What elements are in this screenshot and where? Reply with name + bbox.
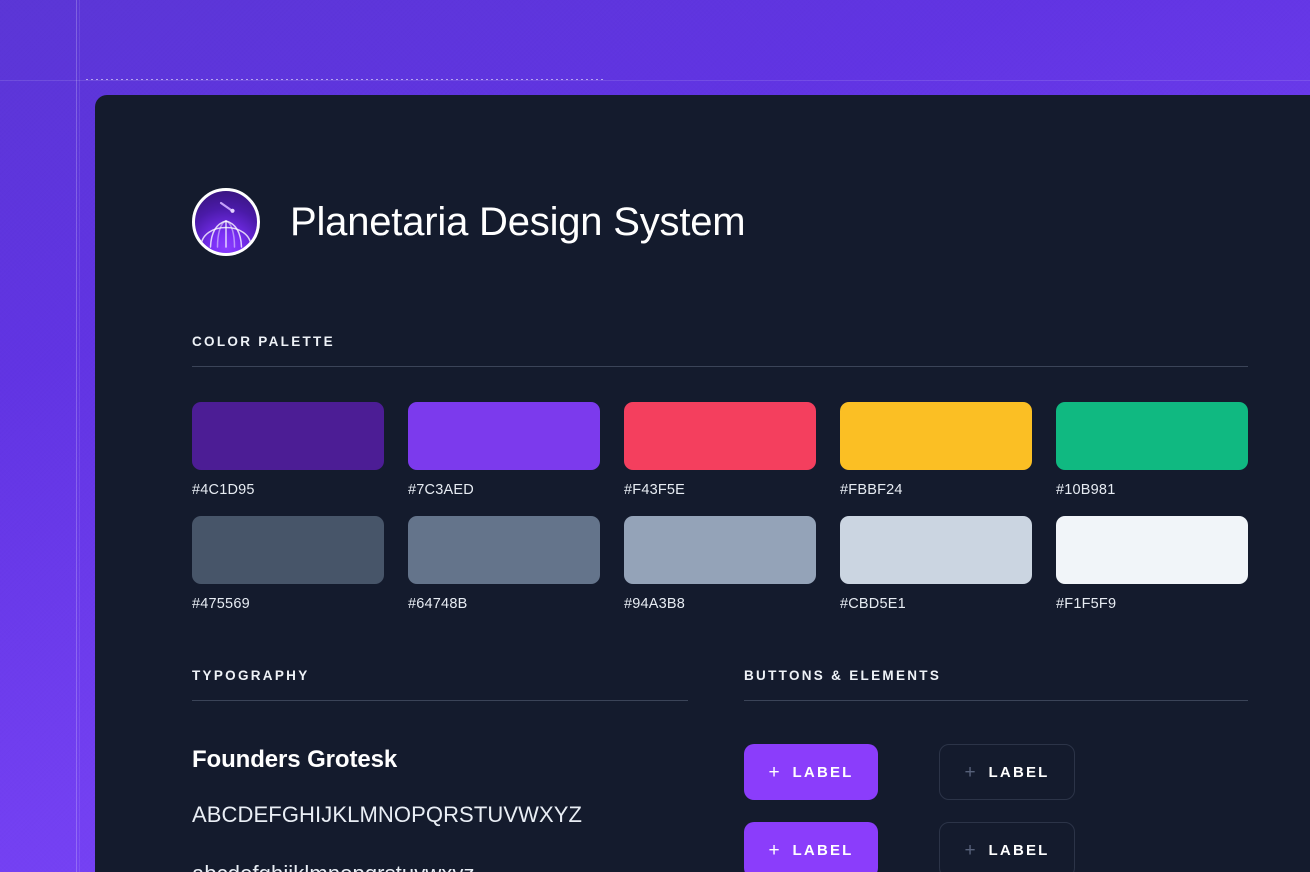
- color-swatch-hex: #475569: [192, 596, 384, 612]
- color-swatch-chip[interactable]: [192, 402, 384, 470]
- section-heading-buttons: BUTTONS & ELEMENTS: [744, 668, 1248, 683]
- color-swatch-hex: #64748B: [408, 596, 600, 612]
- button-label: LABEL: [793, 842, 854, 859]
- color-swatch[interactable]: #CBD5E1: [840, 516, 1032, 612]
- section-color-palette: COLOR PALETTE #4C1D95 #7C3AED #F43F5E: [192, 334, 1248, 612]
- color-swatch-hex: #94A3B8: [624, 596, 816, 612]
- color-swatch-hex: #CBD5E1: [840, 596, 1032, 612]
- plus-icon: +: [768, 763, 779, 782]
- plus-icon: +: [964, 841, 975, 860]
- color-swatch[interactable]: #FBBF24: [840, 402, 1032, 498]
- typeface-lowercase-specimen: abcdefghijklmnopqrstuvwxyz: [192, 856, 688, 872]
- color-swatch-hex: #7C3AED: [408, 482, 600, 498]
- guide-line-horizontal: [0, 80, 1310, 81]
- color-swatch[interactable]: #64748B: [408, 516, 600, 612]
- color-swatch-chip[interactable]: [1056, 402, 1248, 470]
- color-swatch-chip[interactable]: [840, 516, 1032, 584]
- guide-line-vertical-secondary: [79, 0, 80, 872]
- color-swatch-chip[interactable]: [1056, 516, 1248, 584]
- section-divider: [192, 366, 1248, 367]
- color-swatch-hex: #FBBF24: [840, 482, 1032, 498]
- section-divider: [744, 700, 1248, 701]
- color-swatch-chip[interactable]: [840, 402, 1032, 470]
- brand-header: Planetaria Design System: [192, 95, 1248, 256]
- section-heading-color-palette: COLOR PALETTE: [192, 334, 1248, 349]
- color-swatch[interactable]: #F43F5E: [624, 402, 816, 498]
- color-swatch[interactable]: #4C1D95: [192, 402, 384, 498]
- section-typography: TYPOGRAPHY Founders Grotesk ABCDEFGHIJKL…: [192, 668, 688, 872]
- plus-icon: +: [768, 841, 779, 860]
- button-grid: + LABEL + LABEL + LABEL + LABEL: [744, 744, 1248, 872]
- section-divider: [192, 700, 688, 701]
- color-swatch-chip[interactable]: [624, 402, 816, 470]
- color-swatch-hex: #4C1D95: [192, 482, 384, 498]
- color-swatch-grid: #4C1D95 #7C3AED #F43F5E #FBBF24 #10B981: [192, 402, 1248, 612]
- color-swatch-chip[interactable]: [408, 516, 600, 584]
- color-swatch[interactable]: #94A3B8: [624, 516, 816, 612]
- button-label: LABEL: [793, 764, 854, 781]
- color-swatch-chip[interactable]: [408, 402, 600, 470]
- guide-line-dotted: [86, 79, 606, 80]
- planetarium-dome-icon: [192, 188, 260, 256]
- secondary-button[interactable]: + LABEL: [939, 744, 1075, 800]
- button-label: LABEL: [989, 764, 1050, 781]
- primary-button[interactable]: + LABEL: [744, 744, 878, 800]
- section-heading-typography: TYPOGRAPHY: [192, 668, 688, 683]
- color-swatch-chip[interactable]: [192, 516, 384, 584]
- typeface-name: Founders Grotesk: [192, 746, 688, 774]
- color-swatch[interactable]: #475569: [192, 516, 384, 612]
- color-swatch-hex: #F43F5E: [624, 482, 816, 498]
- color-swatch[interactable]: #7C3AED: [408, 402, 600, 498]
- design-system-panel: Planetaria Design System COLOR PALETTE #…: [95, 95, 1310, 872]
- color-swatch[interactable]: #F1F5F9: [1056, 516, 1248, 612]
- color-swatch[interactable]: #10B981: [1056, 402, 1248, 498]
- primary-button[interactable]: + LABEL: [744, 822, 878, 872]
- color-swatch-hex: #F1F5F9: [1056, 596, 1248, 612]
- typeface-uppercase-specimen: ABCDEFGHIJKLMNOPQRSTUVWXYZ: [192, 797, 688, 833]
- secondary-button[interactable]: + LABEL: [939, 822, 1075, 872]
- button-label: LABEL: [989, 842, 1050, 859]
- plus-icon: +: [964, 763, 975, 782]
- color-swatch-hex: #10B981: [1056, 482, 1248, 498]
- guide-line-vertical: [76, 0, 77, 872]
- section-buttons-elements: BUTTONS & ELEMENTS + LABEL + LABEL + LAB…: [744, 668, 1248, 872]
- color-swatch-chip[interactable]: [624, 516, 816, 584]
- page-title: Planetaria Design System: [290, 202, 745, 242]
